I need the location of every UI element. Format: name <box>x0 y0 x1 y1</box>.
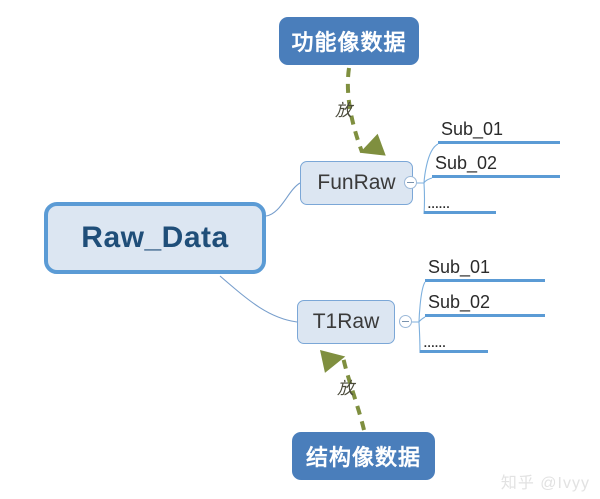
leaf-t1raw-sub-01[interactable]: Sub_01 <box>425 254 545 282</box>
leaf-funraw-sub-02[interactable]: Sub_02 <box>432 150 560 178</box>
leaf-t1raw-sub-02[interactable]: Sub_02 <box>425 289 545 317</box>
leaf-underline <box>438 141 560 144</box>
leaf-underline <box>424 211 496 214</box>
annotation-structural-data[interactable]: 结构像数据 <box>292 432 435 480</box>
edge-label-structural: 放 <box>337 374 354 399</box>
annotation-functional-data[interactable]: 功能像数据 <box>279 17 419 65</box>
node-t1raw[interactable]: T1Raw <box>297 300 395 344</box>
leaf-funraw-more[interactable]: ...... <box>424 186 496 214</box>
watermark: 知乎 @Ivyy <box>501 469 590 493</box>
leaf-label: ...... <box>423 332 445 352</box>
leaf-underline <box>425 279 545 282</box>
leaf-underline <box>432 175 560 178</box>
leaf-underline <box>425 314 545 317</box>
leaf-underline <box>420 350 488 353</box>
collapse-minus-icon[interactable] <box>399 315 412 328</box>
annotation-functional-label: 功能像数据 <box>291 25 406 57</box>
leaf-label: Sub_02 <box>435 153 497 174</box>
node-t1raw-label: T1Raw <box>313 310 380 334</box>
node-raw-data-label: Raw_Data <box>81 221 228 255</box>
edge-root-to-funraw <box>266 183 300 216</box>
node-raw-data[interactable]: Raw_Data <box>44 202 266 274</box>
mindmap-canvas: 功能像数据 结构像数据 放 放 Raw_Data FunRaw T1Raw Su… <box>0 0 600 499</box>
node-funraw[interactable]: FunRaw <box>300 161 413 205</box>
leaf-label: Sub_01 <box>441 119 503 140</box>
node-funraw-label: FunRaw <box>317 171 395 195</box>
leaf-label: Sub_01 <box>428 257 490 278</box>
edge-label-functional: 放 <box>335 96 352 121</box>
leaf-t1raw-more[interactable]: ...... <box>420 325 488 353</box>
leaf-label: Sub_02 <box>428 292 490 313</box>
edge-root-to-t1raw <box>220 276 297 322</box>
annotation-structural-label: 结构像数据 <box>306 440 421 472</box>
leaf-label: ...... <box>427 193 449 213</box>
leaf-funraw-sub-01[interactable]: Sub_01 <box>438 116 560 144</box>
collapse-minus-icon[interactable] <box>404 176 417 189</box>
